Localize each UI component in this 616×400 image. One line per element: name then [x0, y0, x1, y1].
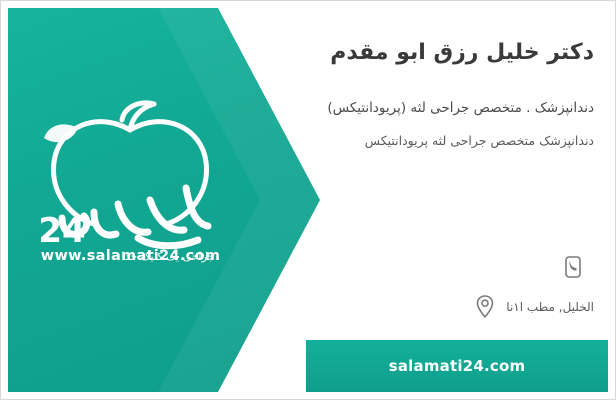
contact-address-row[interactable]: الخلیل, مطب ا١نا [472, 292, 594, 322]
doctor-specialty-primary: دندانپزشک . متخصص جراحی لثه (پریودانتیکس… [174, 100, 594, 116]
logo-website-url: www.salamati24.com [18, 248, 243, 264]
doctor-name: دکتر خلیل رزق ابو مقدم [174, 38, 594, 68]
doctor-specialty-secondary: دندانپزشک متخصص جراحی لثه پریودانتیکس [174, 133, 594, 148]
contact-address-label: الخلیل, مطب ا١نا [506, 300, 594, 314]
phone-icon [560, 252, 586, 282]
svg-text:24: 24 [38, 211, 85, 251]
contact-phone-row[interactable] [560, 252, 594, 282]
business-card: 24 جراحی یک کلیک خدا www.salamati24.com … [0, 0, 616, 400]
footer-website-url[interactable]: salamati24.com [306, 340, 608, 392]
map-pin-icon [472, 292, 498, 322]
